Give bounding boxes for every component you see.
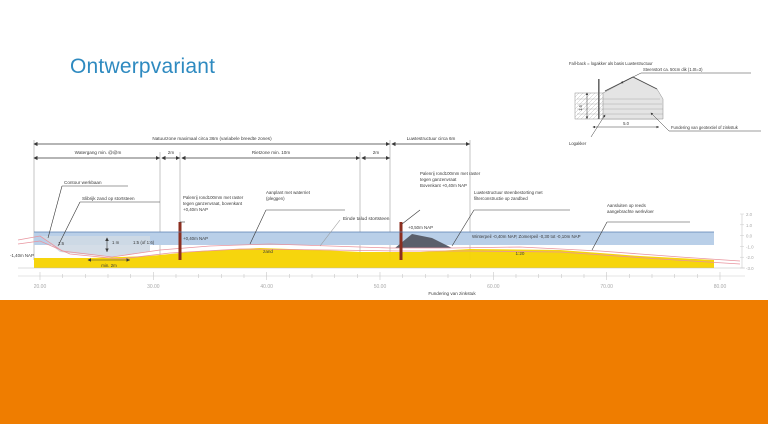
dim-label-2m-right: 2m: [373, 150, 380, 155]
dim-label-luwtestructuur: Luwtestructuur circa 6m: [407, 136, 456, 141]
x-axis-tick-label: 30.00: [147, 284, 160, 290]
dimension-chain-row-1: Natuurzone maximaal circa 36m (variabele…: [34, 136, 470, 144]
x-axis-tick-label: 40.00: [260, 284, 273, 290]
callout-aanplant-line2: (pleggen): [266, 196, 285, 201]
label-fundering-zinkstuk: Fundering van zinkstuk: [428, 291, 476, 296]
label-slope-1-6: 1:6: [58, 241, 65, 246]
y-axis-tick-label: 2.0: [746, 212, 753, 217]
inset-slope-body: [603, 77, 663, 119]
x-axis-tick-label: 60.00: [487, 284, 500, 290]
callout-einde-talud: Einde talud stortsteen: [343, 216, 390, 222]
callout-palenrij-right-line1: Palenrij rond100mm met raster: [420, 171, 481, 176]
callout-contour-werkbaan: Contour werkbaan: [64, 180, 102, 185]
slide-canvas: Ontwerpvariant Natuurzone maximaal circa…: [0, 0, 768, 424]
y-axis-tick-label: -1.0: [746, 244, 754, 249]
label-minus140-nap: -1,40m NAP: [10, 253, 34, 258]
inset-label-steenstort: Steenstort ca. 50cm dik (1.0t=3): [643, 67, 703, 72]
page-title: Ontwerpvariant: [70, 55, 215, 79]
x-axis-tick-label: 50.00: [374, 284, 387, 290]
inset-title: Fall-back = logakker als basis Luwtestru…: [569, 61, 653, 66]
detail-inset: Fall-back = logakker als basis Luwtestru…: [565, 55, 765, 150]
label-1m-depth: 1 m: [112, 240, 120, 245]
callout-palenrij-left-line1: Palenrij rond100mm met raster: [183, 195, 244, 200]
y-axis-tick-label: 0.0: [746, 234, 753, 239]
callout-palenrij-left-line3: +0,40m NAP: [183, 207, 208, 212]
label-peilen: Winterpeil -0,40m NAP, Zomerpeil -0,30 t…: [472, 234, 581, 239]
y-axis-tick-label: -2.0: [746, 255, 754, 260]
inset-label-logakker: Logakker: [569, 141, 587, 146]
dim-label-watergang: Watergang min. @@m: [75, 150, 122, 155]
label-slope-1-5: 1:5 (of 1:6): [133, 240, 155, 245]
callout-luwtestructuur-line1: Luwtestructuur steenbestorting met: [474, 190, 543, 195]
inset-dim-1-5: 1.5: [578, 104, 583, 110]
x-axis-tick-label: 20.00: [34, 284, 47, 290]
inset-post: [598, 79, 600, 119]
dim-label-2m-left: 2m: [168, 150, 175, 155]
callout-palenrij-right-line3: Bovenkant +0,40m NAP: [420, 183, 467, 188]
callout-palenrij-right-line2: tegen ganzenvraat: [420, 177, 457, 182]
callout-palenrij-left-line2: tegen ganzenvraat, bovenkant: [183, 201, 243, 206]
orange-footer-band: [0, 300, 768, 424]
label-min-2m: min. 2m: [101, 263, 117, 268]
inset-label-fundering: Fundering van geotextiel of zinkstuk: [671, 125, 739, 130]
callout-aanplant-line1: Aanplant met waterriet: [266, 190, 311, 195]
x-axis-tick-label: 80.00: [714, 284, 727, 290]
callout-aansluiten-line2: aangebrachte werkvloer: [607, 209, 654, 214]
x-axis-tick-label: 70.00: [600, 284, 613, 290]
x-axis: 20.0030.0040.0050.0060.0070.0080.00: [18, 272, 745, 290]
y-axis: 2.01.00.0-1.0-2.0-3.0: [740, 212, 754, 271]
y-axis-tick-label: 1.0: [746, 223, 753, 228]
callout-aansluiten-line1: Aansluiten op reeds: [607, 203, 647, 208]
dim-label-natuurzone: Natuurzone maximaal circa 36m (variabele…: [152, 136, 272, 141]
label-plus050-nap: +0,50m NAP: [408, 225, 433, 230]
callout-slibrijk-zand: Slibrijk zand op stortsteen: [82, 196, 135, 201]
callout-luwtestructuur-line2: filterconstructie op zandbed: [474, 196, 528, 201]
pile-row-right: [400, 222, 403, 260]
section-geometry: [18, 222, 745, 268]
y-axis-tick-label: -3.0: [746, 266, 754, 271]
inset-dim-5-0: 5.0: [623, 121, 629, 126]
pile-row-left: [179, 222, 182, 260]
label-slope-1-20: 1:20: [516, 251, 525, 256]
label-zand: zand: [263, 249, 273, 254]
label-plus040-nap-left: +0,40m NAP: [183, 236, 208, 241]
dim-label-rietzone: Rietzone min. 10m: [252, 150, 290, 155]
